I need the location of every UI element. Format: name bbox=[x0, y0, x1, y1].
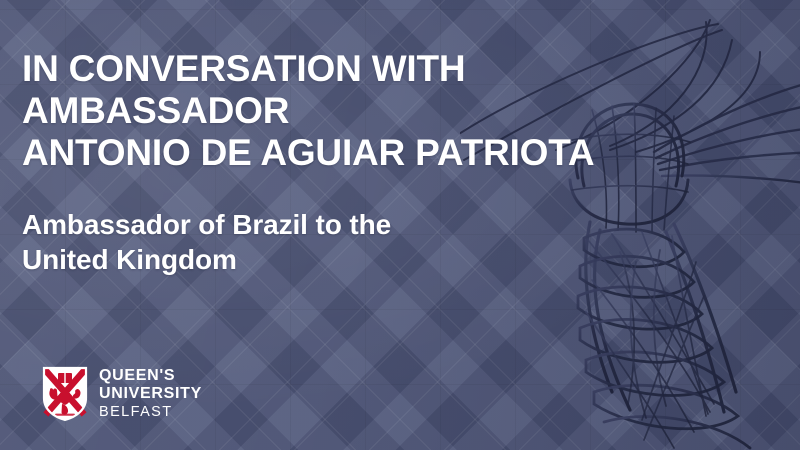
logo-line-university: UNIVERSITY bbox=[99, 386, 202, 402]
logo-wordmark: QUEEN'S UNIVERSITY BELFAST bbox=[99, 368, 202, 420]
text-block: IN CONVERSATION WITH AMBASSADOR ANTONIO … bbox=[22, 48, 742, 277]
page-subtitle: Ambassador of Brazil to the United Kingd… bbox=[22, 175, 742, 278]
headline-line-3: ANTONIO DE AGUIAR PATRIOTA bbox=[22, 132, 742, 174]
title-slide: IN CONVERSATION WITH AMBASSADOR ANTONIO … bbox=[0, 0, 800, 450]
logo-line-queens: QUEEN'S bbox=[99, 368, 202, 384]
page-title: IN CONVERSATION WITH AMBASSADOR ANTONIO … bbox=[22, 48, 742, 175]
headline-line-1: IN CONVERSATION WITH bbox=[22, 48, 742, 90]
subhead-line-1: Ambassador of Brazil to the bbox=[22, 207, 742, 242]
subhead-line-2: United Kingdom bbox=[22, 242, 742, 277]
headline-line-2: AMBASSADOR bbox=[22, 90, 742, 132]
queens-university-crest-icon bbox=[42, 366, 88, 422]
logo-line-belfast: BELFAST bbox=[99, 405, 202, 420]
queens-university-logo: QUEEN'S UNIVERSITY BELFAST bbox=[42, 366, 202, 422]
